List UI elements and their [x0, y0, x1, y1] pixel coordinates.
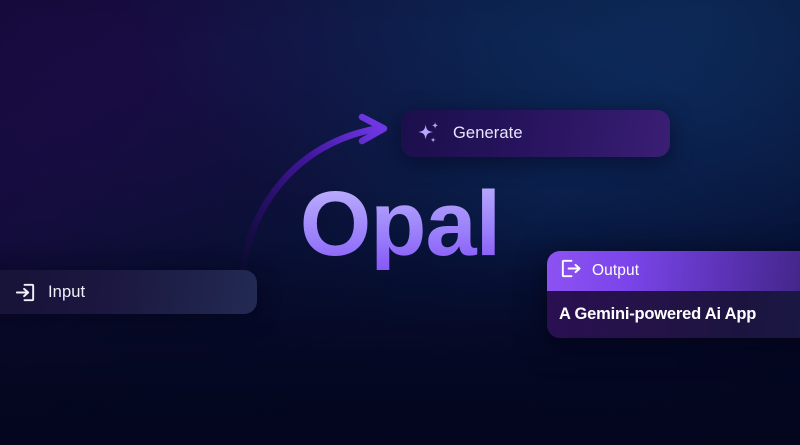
input-button-label: Input: [48, 283, 85, 302]
output-card-header: Output: [547, 251, 800, 291]
opal-hero-canvas: Opal Generate Input: [0, 0, 800, 445]
output-card[interactable]: Output A Gemini-powered Ai App: [547, 251, 800, 338]
input-button[interactable]: Input: [0, 270, 257, 314]
sparkle-icon: [416, 121, 442, 147]
output-card-body: A Gemini-powered Ai App: [547, 291, 800, 338]
output-card-body-text: A Gemini-powered Ai App: [559, 305, 756, 324]
generate-button[interactable]: Generate: [401, 110, 670, 157]
generate-button-label: Generate: [453, 124, 523, 143]
arrow-out-of-box-icon: [559, 257, 582, 285]
arrow-into-box-icon: [14, 281, 37, 304]
output-card-header-label: Output: [592, 262, 639, 280]
